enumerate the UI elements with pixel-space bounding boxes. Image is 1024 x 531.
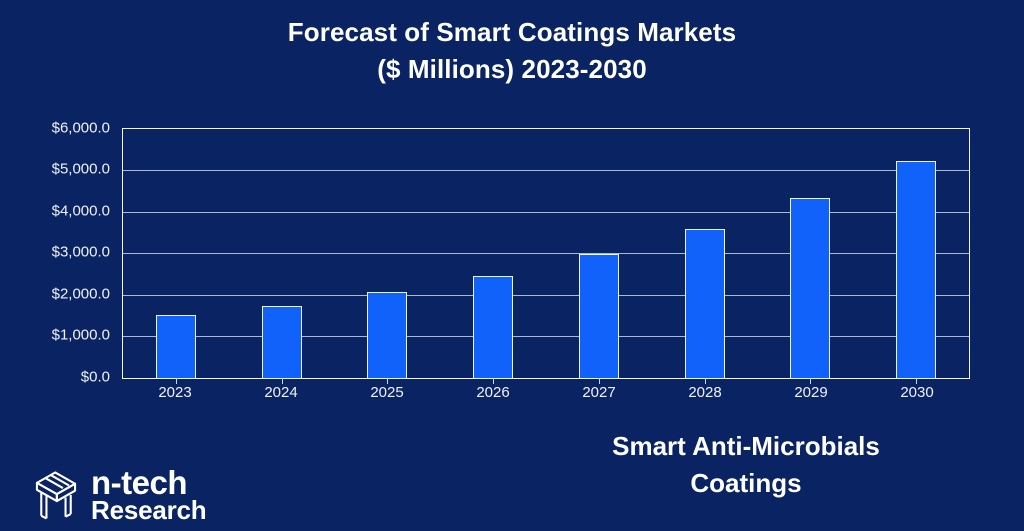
y-axis-tick-label: $5,000.0 [0,162,110,177]
chart-title: Forecast of Smart Coatings Markets ($ Mi… [0,14,1024,88]
n-tech-isometric-logo-icon [30,467,82,523]
x-axis-tick-mark [387,378,388,384]
y-axis-tick-label: $0.0 [0,369,110,384]
y-axis-tick-label: $4,000.0 [0,203,110,218]
chart-title-line-2: ($ Millions) 2023-2030 [0,51,1024,88]
x-axis-tick-label: 2028 [652,385,758,400]
bar-slot [863,129,969,378]
y-axis-tick-label: $3,000.0 [0,245,110,260]
x-axis-tick-mark [176,378,177,384]
bar-slot [546,129,652,378]
bar-slot [123,129,229,378]
bar-slot [335,129,441,378]
x-axis: 20232024202520262027202820292030 [122,385,970,400]
bar-2028[interactable] [685,229,725,378]
bar-2030[interactable] [896,161,936,377]
bar-slot [652,129,758,378]
logo-primary-text: n-tech [91,468,206,499]
bar-slot [758,129,864,378]
x-axis-tick-label: 2023 [122,385,228,400]
x-axis-tick-mark [705,378,706,384]
x-axis-tick-label: 2025 [334,385,440,400]
chart-container: Forecast of Smart Coatings Markets ($ Mi… [0,0,1024,531]
bars-layer [123,129,969,378]
bar-2024[interactable] [262,306,302,377]
x-axis-tick-label: 2024 [228,385,334,400]
bar-slot [229,129,335,378]
x-axis-tick-mark [810,378,811,384]
logo-secondary-text: Research [91,498,206,522]
plot-wrapper: $0.0$1,000.0$2,000.0$3,000.0$4,000.0$5,0… [0,115,1024,415]
bar-2023[interactable] [156,315,196,377]
x-axis-tick-label: 2029 [758,385,864,400]
series-caption-line-1: Smart Anti-Microbials [536,428,956,465]
y-axis-tick-label: $2,000.0 [0,286,110,301]
y-axis-tick-label: $6,000.0 [0,120,110,135]
bar-slot [440,129,546,378]
bar-2026[interactable] [473,276,513,378]
x-axis-tick-mark [493,378,494,384]
x-axis-tick-mark [599,378,600,384]
x-axis-tick-label: 2030 [864,385,970,400]
x-axis-tick-label: 2027 [546,385,652,400]
chart-title-line-1: Forecast of Smart Coatings Markets [0,14,1024,51]
logo-text: n-tech Research [91,468,206,523]
x-axis-tick-label: 2026 [440,385,546,400]
bar-2025[interactable] [367,292,407,377]
series-caption-line-2: Coatings [536,465,956,502]
bar-2029[interactable] [790,198,830,377]
plot-area [122,128,970,379]
y-axis-tick-label: $1,000.0 [0,328,110,343]
x-axis-tick-mark [916,378,917,384]
logo: n-tech Research [30,467,206,523]
y-axis: $0.0$1,000.0$2,000.0$3,000.0$4,000.0$5,0… [0,115,120,379]
x-axis-tick-mark [282,378,283,384]
bar-2027[interactable] [579,254,619,378]
series-caption: Smart Anti-Microbials Coatings [536,428,956,502]
